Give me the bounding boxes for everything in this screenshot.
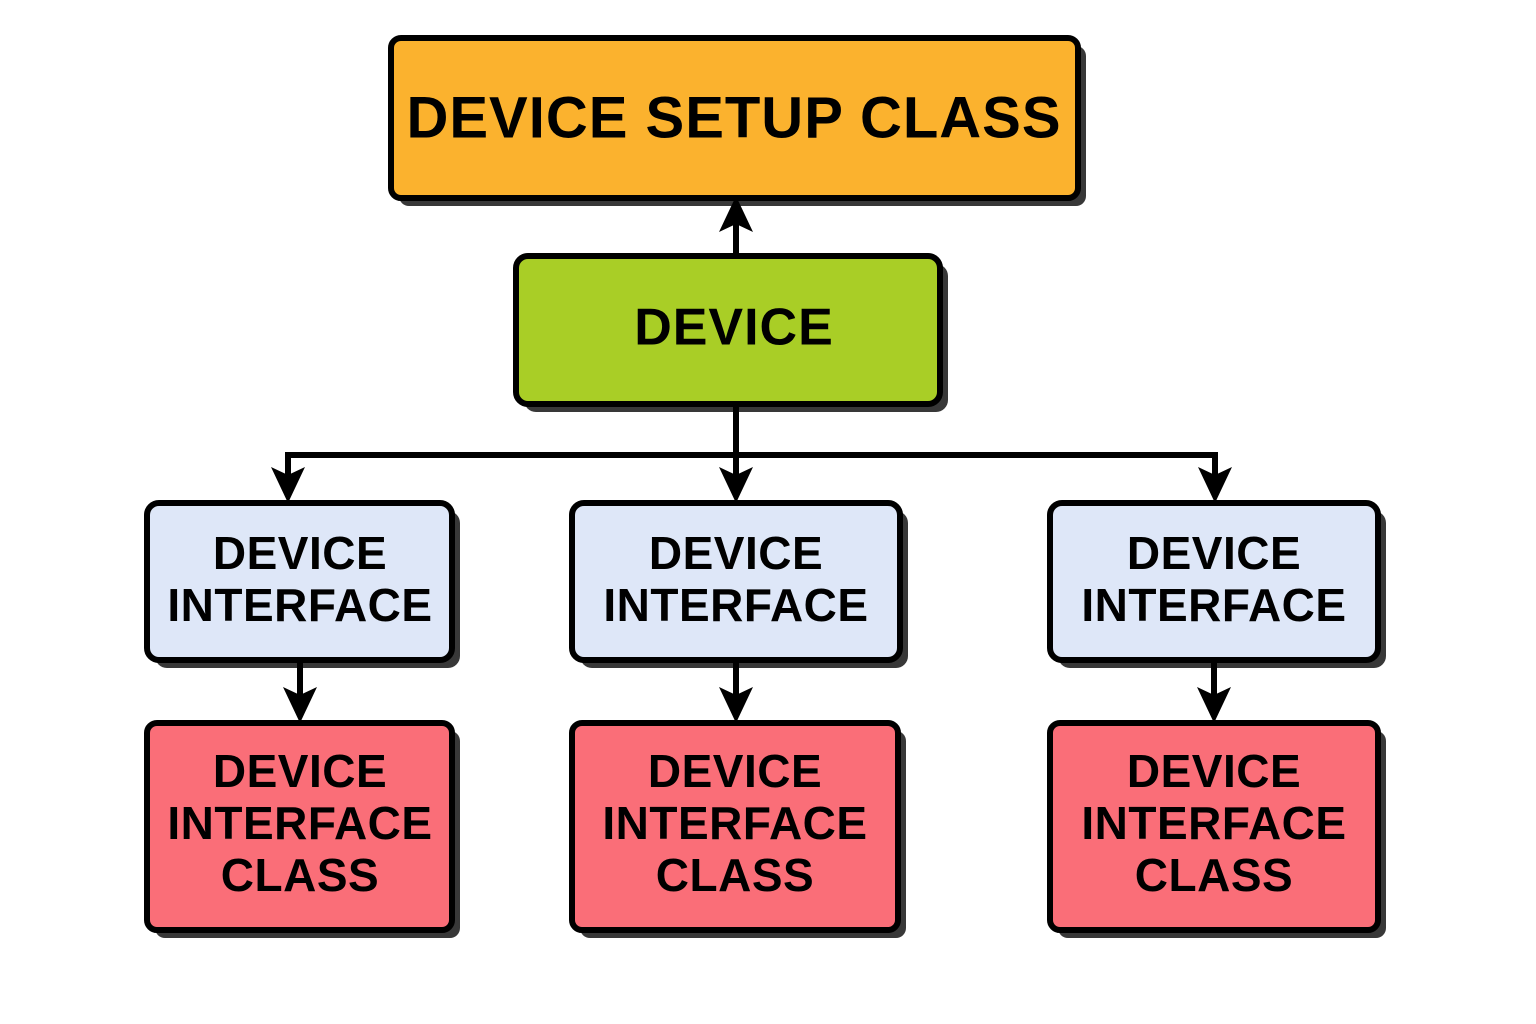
- node-label-interface-3-line-2: INTERFACE: [1081, 579, 1346, 631]
- edge-interface-2-to-class-2: [719, 660, 753, 723]
- node-label-setup-class: DEVICE SETUP CLASS: [406, 85, 1061, 150]
- node-label-interface-class-3-line-3: CLASS: [1135, 849, 1293, 901]
- node-device-interface-3[interactable]: DEVICE INTERFACE: [1050, 503, 1386, 668]
- node-label-interface-1-line-1: DEVICE: [213, 527, 387, 579]
- node-label-interface-class-1-line-2: INTERFACE: [167, 797, 432, 849]
- node-device-interface-class-2[interactable]: DEVICE INTERFACE CLASS: [572, 723, 906, 938]
- node-label-interface-1-line-2: INTERFACE: [167, 579, 432, 631]
- node-label-interface-2-line-2: INTERFACE: [603, 579, 868, 631]
- node-device-interface-class-1[interactable]: DEVICE INTERFACE CLASS: [147, 723, 460, 938]
- node-device-interface-1[interactable]: DEVICE INTERFACE: [147, 503, 460, 668]
- node-device-interface-class-3[interactable]: DEVICE INTERFACE CLASS: [1050, 723, 1386, 938]
- node-label-interface-3-line-1: DEVICE: [1127, 527, 1301, 579]
- diagram-canvas: DEVICE SETUP CLASS DEVICE DEVICE INTERFA…: [0, 0, 1536, 1024]
- node-device[interactable]: DEVICE: [516, 256, 948, 412]
- edge-bus-to-interface-3: [1198, 455, 1232, 503]
- node-device-setup-class[interactable]: DEVICE SETUP CLASS: [391, 38, 1086, 206]
- edge-bus-to-interface-1: [271, 455, 305, 503]
- node-label-interface-class-3-line-1: DEVICE: [1127, 745, 1301, 797]
- node-label-interface-class-1-line-3: CLASS: [221, 849, 379, 901]
- node-label-interface-2-line-1: DEVICE: [649, 527, 823, 579]
- node-label-device: DEVICE: [634, 299, 834, 357]
- node-label-interface-class-2-line-3: CLASS: [656, 849, 814, 901]
- node-label-interface-class-3-line-2: INTERFACE: [1081, 797, 1346, 849]
- edge-interface-1-to-class-1: [283, 660, 317, 723]
- node-label-interface-class-1-line-1: DEVICE: [213, 745, 387, 797]
- edge-interface-3-to-class-3: [1197, 660, 1231, 723]
- node-label-interface-class-2-line-2: INTERFACE: [602, 797, 867, 849]
- node-device-interface-2[interactable]: DEVICE INTERFACE: [572, 503, 908, 668]
- node-label-interface-class-2-line-1: DEVICE: [648, 745, 822, 797]
- hierarchy-diagram: DEVICE SETUP CLASS DEVICE DEVICE INTERFA…: [0, 0, 1536, 1024]
- edge-bus-to-interface-2: [719, 455, 753, 503]
